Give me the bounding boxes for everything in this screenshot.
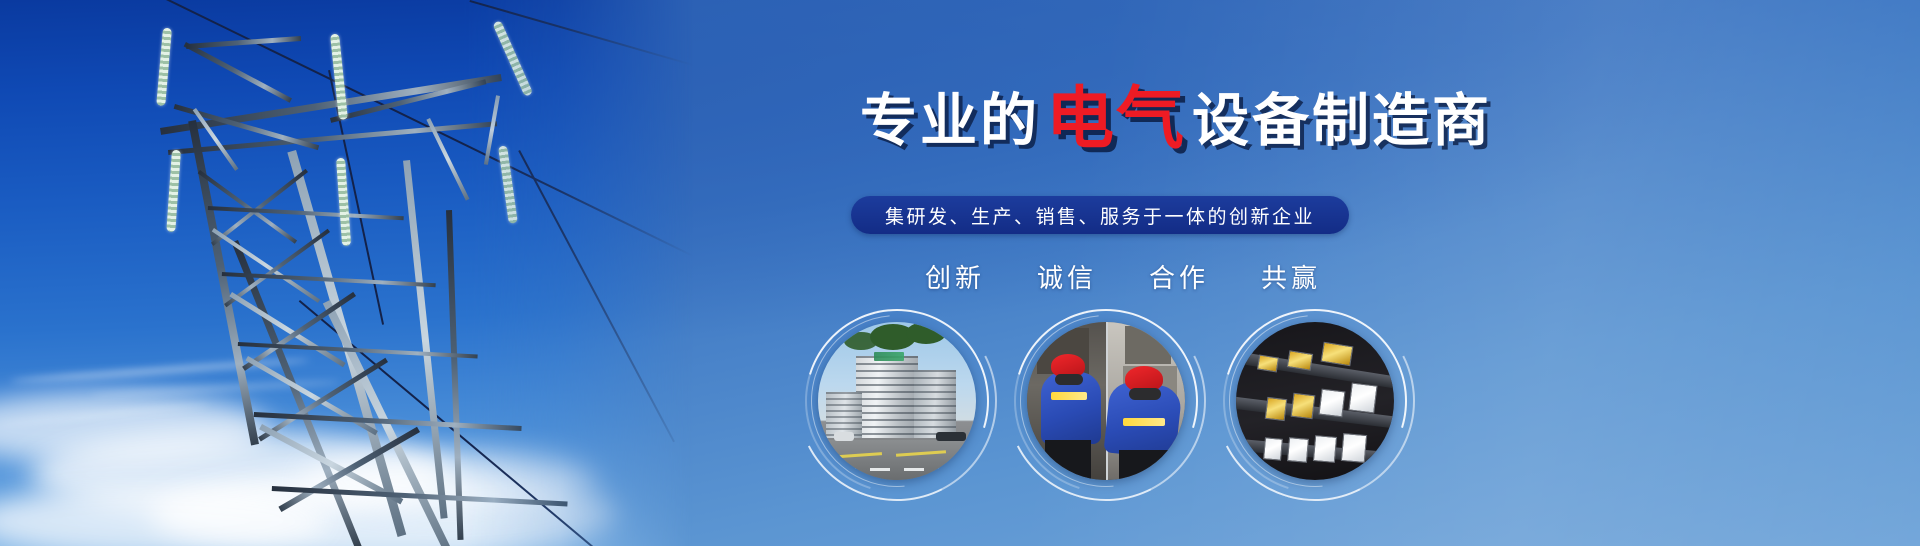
circle-photo-technicians[interactable] bbox=[1027, 322, 1185, 480]
lattice-brace bbox=[484, 95, 500, 165]
circle-photo-office-building[interactable] bbox=[818, 322, 976, 480]
power-line bbox=[469, 0, 700, 118]
keyword-list: 创新 诚信 合作 共赢 bbox=[925, 258, 1321, 295]
transmission-tower-photo bbox=[0, 0, 700, 546]
insulator-string bbox=[492, 20, 533, 97]
circle-photo-row bbox=[818, 322, 1394, 480]
subtitle-text: 集研发、生产、销售、服务于一体的创新企业 bbox=[885, 202, 1315, 229]
insulator-string bbox=[166, 150, 181, 232]
keyword-item: 创新 bbox=[925, 258, 985, 295]
keyword-item: 诚信 bbox=[1037, 258, 1097, 295]
headline-part-2-highlight: 电气 bbox=[1046, 86, 1186, 154]
insulator-string bbox=[498, 145, 518, 223]
headline-part-3: 设备制造商 bbox=[1192, 93, 1492, 150]
circle-photo-certificates[interactable] bbox=[1236, 322, 1394, 480]
keyword-item: 共赢 bbox=[1261, 258, 1321, 295]
promo-banner: 专业的 电气 设备制造商 集研发、生产、销售、服务于一体的创新企业 创新 诚信 … bbox=[0, 0, 1920, 546]
insulator-string bbox=[156, 28, 172, 106]
headline-part-1: 专业的 bbox=[860, 93, 1040, 150]
tower-leg bbox=[446, 210, 464, 540]
headline: 专业的 电气 设备制造商 bbox=[860, 82, 1492, 150]
keyword-item: 合作 bbox=[1149, 258, 1209, 295]
subtitle-pill: 集研发、生产、销售、服务于一体的创新企业 bbox=[851, 196, 1349, 234]
pylon-structure bbox=[0, 0, 700, 546]
power-line bbox=[518, 150, 675, 442]
